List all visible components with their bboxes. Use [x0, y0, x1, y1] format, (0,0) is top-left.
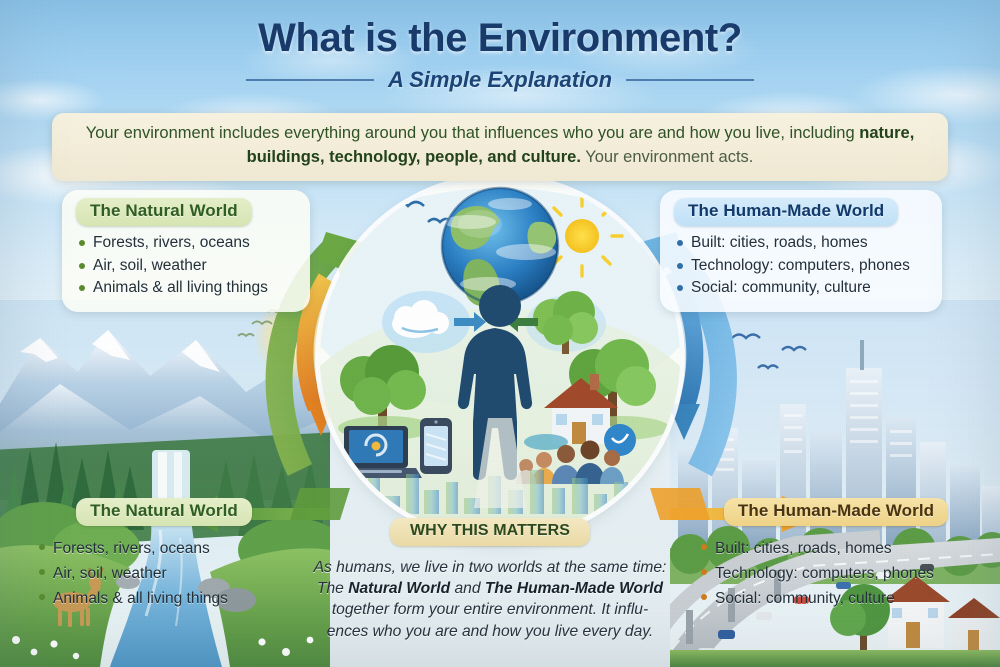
intro-banner: Your environment includes everything aro…: [52, 113, 948, 181]
list-item: Built: cities, roads, homes: [674, 232, 928, 255]
rule-left: [246, 79, 374, 81]
panel-human-made-world-top: The Human-Made World Built: cities, road…: [660, 190, 942, 312]
why-line-1: As humans, we live in two worlds at the …: [278, 557, 702, 578]
central-environment-circle: [320, 178, 680, 538]
why-line-2-mid: and: [450, 580, 485, 597]
list-natural-top: Forests, rivers, oceans Air, soil, weath…: [76, 232, 296, 300]
city-scenery-illustration: [670, 300, 1000, 667]
list-item: Air, soil, weather: [36, 561, 298, 586]
list-item: Animals & all living things: [36, 586, 298, 611]
panel-heading-human-bottom: The Human-Made World: [724, 498, 948, 526]
panel-heading-natural-top: The Natural World: [76, 198, 252, 226]
list-human-top: Built: cities, roads, homes Technology: …: [674, 232, 928, 300]
why-line-2: The Natural World and The Human-Made Wor…: [278, 578, 702, 599]
list-human-bottom: Built: cities, roads, homes Technology: …: [688, 536, 984, 611]
why-body: As humans, we live in two worlds at the …: [278, 557, 702, 642]
panel-heading-natural-bottom: The Natural World: [76, 498, 252, 526]
why-line-4: ences who you are and how you live every…: [278, 621, 702, 642]
list-item: Forests, rivers, oceans: [36, 536, 298, 561]
list-item: Air, soil, weather: [76, 255, 296, 278]
subtitle-row: A Simple Explanation: [0, 67, 1000, 93]
list-item: Built: cities, roads, homes: [698, 536, 984, 561]
page-subtitle: A Simple Explanation: [388, 67, 612, 93]
why-line-3: together form your entire environment. I…: [278, 599, 702, 620]
page-title: What is the Environment?: [0, 16, 1000, 61]
why-emphasis-human: The Human-Made World: [485, 580, 663, 597]
list-item: Forests, rivers, oceans: [76, 232, 296, 255]
why-this-matters-block: WHY THIS MATTERS As humans, we live in t…: [278, 518, 702, 642]
why-emphasis-natural: Natural World: [348, 580, 450, 597]
list-natural-bottom: Forests, rivers, oceans Air, soil, weath…: [30, 536, 298, 611]
intro-lead: Your environment includes everything aro…: [86, 124, 855, 142]
rule-right: [626, 79, 754, 81]
why-heading: WHY THIS MATTERS: [390, 518, 590, 546]
list-item: Technology: computers, phones: [698, 561, 984, 586]
panel-human-made-world-bottom: The Human-Made World Built: cities, road…: [688, 498, 984, 611]
header: What is the Environment? A Simple Explan…: [0, 16, 1000, 93]
list-item: Animals & all living things: [76, 277, 296, 300]
list-item: Social: community, culture: [674, 277, 928, 300]
list-item: Technology: computers, phones: [674, 255, 928, 278]
panel-natural-world-bottom: The Natural World Forests, rivers, ocean…: [30, 498, 298, 611]
why-line-2-pre: The: [317, 580, 348, 597]
list-item: Social: community, culture: [698, 586, 984, 611]
intro-tail: Your environment acts.: [585, 148, 753, 166]
panel-natural-world-top: The Natural World Forests, rivers, ocean…: [62, 190, 310, 312]
smartphone-icon: [420, 418, 452, 474]
infographic-canvas: What is the Environment? A Simple Explan…: [0, 0, 1000, 667]
panel-heading-human-top: The Human-Made World: [674, 198, 898, 226]
